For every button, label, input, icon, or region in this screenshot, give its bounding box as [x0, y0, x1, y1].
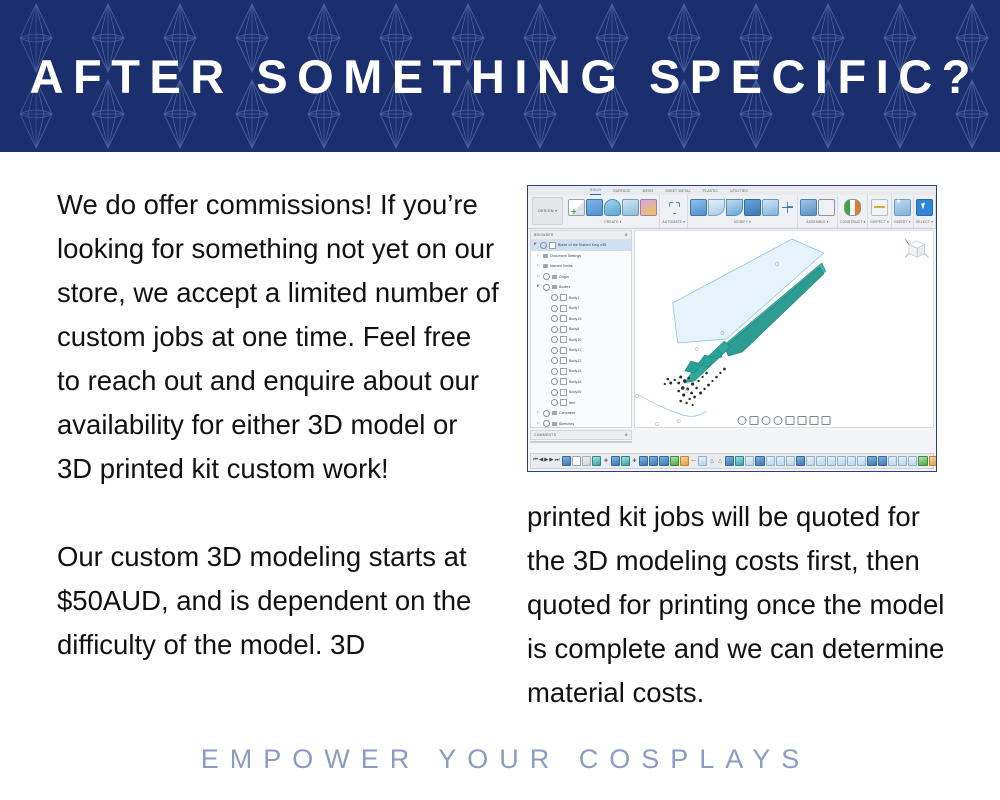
progress-bar: [530, 441, 632, 443]
body-label: Body20: [569, 390, 581, 394]
timeline-feature[interactable]: [847, 456, 856, 467]
timeline-feature[interactable]: [867, 456, 876, 467]
timeline-feature[interactable]: [918, 456, 927, 467]
timeline-feature[interactable]: [786, 456, 795, 467]
node-label: Bodies: [559, 285, 570, 289]
timeline-feature[interactable]: [621, 456, 630, 467]
construct-panel-icons[interactable]: [844, 195, 861, 220]
ribbon-tab-utilities[interactable]: UTILITIES: [730, 187, 748, 195]
skip-to-start-icon[interactable]: ⏮: [533, 457, 538, 466]
display-settings-icon[interactable]: [798, 416, 807, 425]
timeline-feature[interactable]: [755, 456, 764, 467]
timeline-feature[interactable]: [776, 456, 785, 467]
visibility-eye-icon[interactable]: [551, 368, 558, 375]
press-pull-icon[interactable]: [690, 199, 707, 216]
timeline-feature[interactable]: [806, 456, 815, 467]
ribbon-tab-mesh[interactable]: MESH: [643, 187, 654, 195]
expand-arrow-icon[interactable]: ▷: [537, 422, 541, 426]
left-text-column: We do offer commissions! If you’re looki…: [57, 183, 500, 667]
step-back-icon[interactable]: ◀: [539, 457, 543, 466]
browser-root-label: Blade of the Ruined King v35: [558, 243, 606, 247]
browser-panel-header[interactable]: BROWSER ⚙: [531, 231, 631, 240]
timeline-feature[interactable]: —: [690, 457, 697, 466]
comments-title: COMMENTS: [534, 433, 556, 437]
y-axis-indicator: [925, 254, 929, 258]
node-label: Document Settings: [550, 254, 581, 258]
browser-node-canvases[interactable]: ▷ Canvases: [531, 408, 631, 419]
browser-node-bodies[interactable]: ◤ Bodies: [531, 282, 631, 293]
ribbon-tab-surface[interactable]: SURFACE: [613, 187, 630, 195]
ribbon-tab-bar[interactable]: SOLID SURFACE MESH SHEET METAL PLASTIC U…: [528, 186, 936, 195]
browser-title: BROWSER: [534, 233, 554, 237]
timeline-feature[interactable]: [725, 456, 734, 467]
view-cube[interactable]: [900, 234, 930, 264]
visibility-eye-icon[interactable]: [551, 347, 558, 354]
timeline-feature[interactable]: ✚: [631, 457, 638, 466]
right-paragraph-1: printed kit jobs will be quoted for the …: [527, 495, 947, 715]
ribbon-panel-create[interactable]: CREATE ▾: [566, 195, 660, 228]
browser-body-item[interactable]: Body11: [531, 345, 631, 356]
left-paragraph-1: We do offer commissions! If you’re looki…: [57, 183, 500, 491]
ribbon-panel-insert[interactable]: INSERT ▾: [892, 195, 914, 228]
expand-arrow-icon[interactable]: ▷: [537, 275, 541, 279]
body-icon: [560, 315, 567, 322]
body-label: Body1: [569, 296, 579, 300]
insert-panel-label: INSERT ▾: [894, 220, 910, 224]
timeline-feature[interactable]: △: [717, 457, 724, 466]
visibility-eye-icon[interactable]: [551, 305, 558, 312]
create-panel-label: CREATE ▾: [604, 220, 621, 224]
shell-icon[interactable]: [726, 199, 743, 216]
timeline-feature[interactable]: [680, 456, 689, 467]
browser-settings-icon[interactable]: ⚙: [625, 233, 628, 237]
timeline-feature[interactable]: [857, 456, 866, 467]
visibility-eye-icon[interactable]: [543, 420, 550, 427]
body-label: Iteri: [569, 401, 575, 405]
node-label: Canvases: [559, 411, 575, 415]
browser-node-origin[interactable]: ▷ Origin: [531, 272, 631, 283]
step-forward-icon[interactable]: ▶: [549, 457, 553, 466]
automate-icon[interactable]: [666, 200, 681, 215]
design-dropdown-button[interactable]: DESIGN ▾: [532, 197, 563, 225]
timeline-feature[interactable]: [562, 456, 571, 467]
visibility-eye-icon[interactable]: [543, 284, 550, 291]
x-axis-indicator: [905, 254, 909, 258]
body-icon: [560, 378, 567, 385]
left-paragraph-2: Our custom 3D modeling starts at $50AUD,…: [57, 535, 500, 667]
ribbon-panel-construct[interactable]: CONSTRUCT ▾: [838, 195, 868, 228]
footer-tagline: EMPOWER YOUR COSPLAYS: [0, 735, 1000, 783]
node-checkbox-icon[interactable]: [549, 242, 556, 249]
new-component-icon[interactable]: [800, 199, 817, 216]
timeline-feature[interactable]: [611, 456, 620, 467]
body-label: Body8: [569, 327, 579, 331]
timeline-feature[interactable]: [766, 456, 775, 467]
ribbon-tab-sheet-metal[interactable]: SHEET METAL: [665, 187, 690, 195]
timeline-feature[interactable]: [572, 456, 581, 467]
body-icon: [560, 368, 567, 375]
browser-body-item[interactable]: Body10: [531, 335, 631, 346]
split-body-icon[interactable]: [762, 199, 779, 216]
fusion360-screenshot: SOLID SURFACE MESH SHEET METAL PLASTIC U…: [527, 185, 937, 472]
timeline-feature[interactable]: ✚: [602, 457, 609, 466]
construct-panel-label: CONSTRUCT ▾: [840, 220, 865, 224]
visibility-eye-icon[interactable]: [551, 399, 558, 406]
timeline-feature[interactable]: [735, 456, 744, 467]
expand-arrow-icon[interactable]: ▷: [537, 254, 541, 258]
comments-panel-header[interactable]: COMMENTS ⚙: [530, 430, 632, 440]
look-at-icon[interactable]: [750, 416, 759, 425]
insert-panel-icons[interactable]: [894, 195, 911, 220]
modify-panel-icons[interactable]: [690, 195, 795, 220]
create-panel-icons[interactable]: [568, 195, 657, 220]
node-label: Origin: [559, 275, 569, 279]
page-title: AFTER SOMETHING SPECIFIC?: [0, 0, 1000, 152]
timeline-feature[interactable]: [649, 456, 658, 467]
inspect-panel-icons[interactable]: [871, 195, 888, 220]
body-label: Body11: [569, 348, 581, 352]
navigation-bar[interactable]: [738, 416, 831, 425]
timeline-feature[interactable]: [639, 456, 648, 467]
folder-icon: [552, 422, 557, 426]
loft-icon[interactable]: [640, 199, 657, 216]
visibility-eye-icon[interactable]: [551, 326, 558, 333]
timeline-feature[interactable]: [878, 456, 887, 467]
select-panel-label: SELECT ▾: [916, 220, 933, 224]
ribbon-panel-select[interactable]: SELECT ▾: [914, 195, 936, 228]
body-icon: [560, 305, 567, 312]
expand-arrow-icon[interactable]: ▷: [537, 411, 541, 415]
expand-arrow-icon[interactable]: ▷: [537, 264, 541, 268]
revolve-icon[interactable]: [604, 199, 621, 216]
3d-viewport[interactable]: [634, 230, 934, 428]
browser-body-item[interactable]: Body7: [531, 303, 631, 314]
comments-settings-icon[interactable]: ⚙: [625, 433, 628, 437]
visibility-eye-icon[interactable]: [551, 357, 558, 364]
visibility-eye-icon[interactable]: [551, 336, 558, 343]
assemble-panel-icons[interactable]: [800, 195, 835, 220]
collapse-arrow-icon[interactable]: ◤: [537, 285, 541, 289]
automate-panel-icons[interactable]: [666, 195, 681, 220]
browser-node-named-views[interactable]: ▷ Named Views: [531, 261, 631, 272]
visibility-eye-icon[interactable]: [551, 294, 558, 301]
browser-body-item[interactable]: Body20: [531, 387, 631, 398]
node-label: Named Views: [550, 264, 573, 268]
z-axis-indicator: [905, 239, 909, 244]
browser-node-document-settings[interactable]: ▷ Document Settings: [531, 251, 631, 262]
browser-root-node[interactable]: ◤ Blade of the Ruined King v35: [531, 240, 631, 251]
timeline-feature[interactable]: [908, 456, 917, 467]
timeline-feature[interactable]: [796, 456, 805, 467]
inspect-panel-label: INSPECT ▾: [870, 220, 889, 224]
body-icon: [560, 347, 567, 354]
body-icon: [560, 336, 567, 343]
body-label: Body16: [569, 380, 581, 384]
visibility-eye-icon[interactable]: [551, 389, 558, 396]
skip-to-end-icon[interactable]: ⏭: [555, 457, 560, 466]
body-icon: [560, 399, 567, 406]
ribbon-panel-automate[interactable]: AUTOMATE ▾: [660, 195, 688, 228]
measure-icon[interactable]: [871, 199, 888, 216]
orbit-icon[interactable]: [738, 416, 747, 425]
body-label: Body13: [569, 317, 581, 321]
settings-gear-icon: [543, 254, 548, 258]
timeline-feature[interactable]: [698, 456, 707, 467]
timeline-feature[interactable]: [827, 456, 836, 467]
construct-plane-icon[interactable]: [844, 199, 861, 216]
browser-body-item[interactable]: Body1: [531, 293, 631, 304]
ribbon-panel-modify[interactable]: MODIFY ▾: [688, 195, 798, 228]
fit-icon[interactable]: [786, 416, 795, 425]
timeline-feature[interactable]: [888, 456, 897, 467]
body-icon: [560, 389, 567, 396]
play-icon[interactable]: ▶: [544, 457, 548, 466]
browser-body-item[interactable]: Body16: [531, 377, 631, 388]
visibility-eye-icon[interactable]: [543, 273, 550, 280]
ribbon-tab-plastic[interactable]: PLASTIC: [703, 187, 719, 195]
joint-icon[interactable]: [818, 199, 835, 216]
body-icon: [560, 294, 567, 301]
combine-icon[interactable]: [744, 199, 761, 216]
sword-model-render[interactable]: [635, 231, 933, 427]
browser-panel[interactable]: BROWSER ⚙ ◤ Blade of the Ruined King v35…: [530, 230, 632, 428]
modify-panel-label: MODIFY ▾: [734, 220, 751, 224]
extrude-icon[interactable]: [586, 199, 603, 216]
timeline-feature[interactable]: [592, 456, 601, 467]
folder-icon: [552, 285, 557, 289]
ribbon-panel-assemble[interactable]: ASSEMBLE ▾: [798, 195, 838, 228]
automate-panel-label: AUTOMATE ▾: [662, 220, 685, 224]
timeline-feature[interactable]: [898, 456, 907, 467]
ribbon-toolbar[interactable]: DESIGN ▾ CREATE ▾ AUTOMATE ▾: [528, 195, 936, 229]
folder-icon: [552, 275, 557, 279]
folder-icon: [543, 264, 548, 268]
ribbon-tab-solid[interactable]: SOLID: [590, 186, 601, 195]
node-label: Sketches: [559, 422, 574, 426]
timeline-feature[interactable]: [929, 456, 937, 467]
timeline-bar[interactable]: ⏮ ◀ ▶ ▶ ⏭ ✚ ✚ — △ △: [530, 453, 934, 469]
body-icon: [560, 326, 567, 333]
pan-icon[interactable]: [762, 416, 771, 425]
browser-body-item[interactable]: Body12: [531, 356, 631, 367]
body-label: Body10: [569, 338, 581, 342]
timeline-feature[interactable]: [816, 456, 825, 467]
folder-icon: [552, 411, 557, 415]
ribbon-panel-inspect[interactable]: INSPECT ▾: [868, 195, 892, 228]
grid-settings-icon[interactable]: [810, 416, 819, 425]
body-icon: [560, 357, 567, 364]
assemble-panel-label: ASSEMBLE ▾: [806, 220, 828, 224]
browser-body-item[interactable]: Body13: [531, 314, 631, 325]
browser-body-item[interactable]: Iteri: [531, 398, 631, 409]
sketch-curve: [639, 395, 707, 416]
visibility-eye-icon[interactable]: [540, 242, 547, 249]
visibility-eye-icon[interactable]: [551, 378, 558, 385]
right-text-column: printed kit jobs will be quoted for the …: [527, 495, 947, 715]
browser-body-item[interactable]: Body8: [531, 324, 631, 335]
body-label: Body12: [569, 359, 581, 363]
create-sketch-icon[interactable]: [568, 199, 585, 216]
select-panel-icons[interactable]: [916, 195, 933, 220]
visibility-eye-icon[interactable]: [551, 315, 558, 322]
header-banner: AFTER SOMETHING SPECIFIC?: [0, 0, 1000, 152]
body-label: Body14: [569, 369, 581, 373]
fillet-icon[interactable]: [708, 199, 725, 216]
timeline-feature[interactable]: [670, 456, 679, 467]
browser-node-sketches[interactable]: ▷ Sketches: [531, 419, 631, 429]
insert-mcmaster-icon[interactable]: [894, 199, 911, 216]
timeline-feature[interactable]: △: [708, 457, 715, 466]
visibility-eye-icon[interactable]: [543, 410, 550, 417]
body-label: Body7: [569, 306, 579, 310]
expand-arrow-icon[interactable]: ◤: [534, 243, 538, 247]
timeline-feature[interactable]: [837, 456, 846, 467]
timeline-feature[interactable]: [659, 456, 668, 467]
zoom-icon[interactable]: [774, 416, 783, 425]
timeline-feature[interactable]: [745, 456, 754, 467]
viewports-icon[interactable]: [822, 416, 831, 425]
select-cursor-icon[interactable]: [916, 199, 933, 216]
browser-body-item[interactable]: Body14: [531, 366, 631, 377]
sweep-icon[interactable]: [622, 199, 639, 216]
timeline-feature[interactable]: [582, 456, 591, 467]
move-copy-icon[interactable]: [780, 200, 795, 215]
